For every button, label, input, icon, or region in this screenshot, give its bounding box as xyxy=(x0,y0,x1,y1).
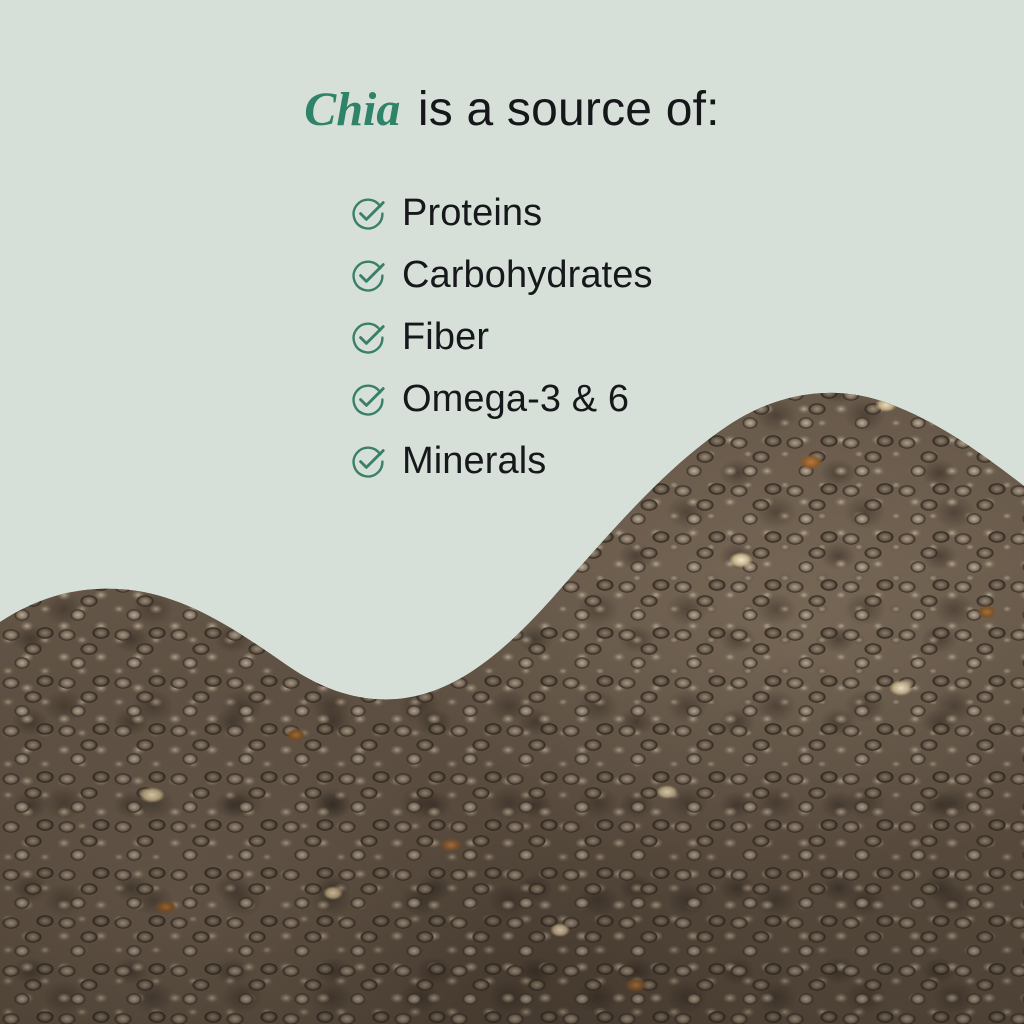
check-circle-icon xyxy=(350,195,386,231)
list-item: Omega-3 & 6 xyxy=(350,368,653,430)
list-item: Proteins xyxy=(350,182,653,244)
list-item: Fiber xyxy=(350,306,653,368)
chia-infographic-canvas: Chia is a source of: Proteins Carbohydra… xyxy=(0,0,1024,1024)
check-circle-icon xyxy=(350,257,386,293)
benefits-list: Proteins Carbohydrates Fiber Omega-3 & 6 xyxy=(350,182,653,492)
brand-word-chia: Chia xyxy=(304,83,404,136)
photo-shading-overlay xyxy=(0,0,1024,1024)
page-title: Chia is a source of: xyxy=(0,80,1024,140)
list-item: Carbohydrates xyxy=(350,244,653,306)
chia-seeds-photo xyxy=(0,0,1024,1024)
benefit-label: Proteins xyxy=(402,193,542,233)
benefit-label: Omega-3 & 6 xyxy=(402,379,629,419)
list-item: Minerals xyxy=(350,430,653,492)
check-circle-icon xyxy=(350,319,386,355)
check-circle-icon xyxy=(350,443,386,479)
benefit-label: Carbohydrates xyxy=(402,255,653,295)
benefit-label: Minerals xyxy=(402,441,546,481)
page-title-rest: is a source of: xyxy=(404,83,719,136)
check-circle-icon xyxy=(350,381,386,417)
benefit-label: Fiber xyxy=(402,317,489,357)
